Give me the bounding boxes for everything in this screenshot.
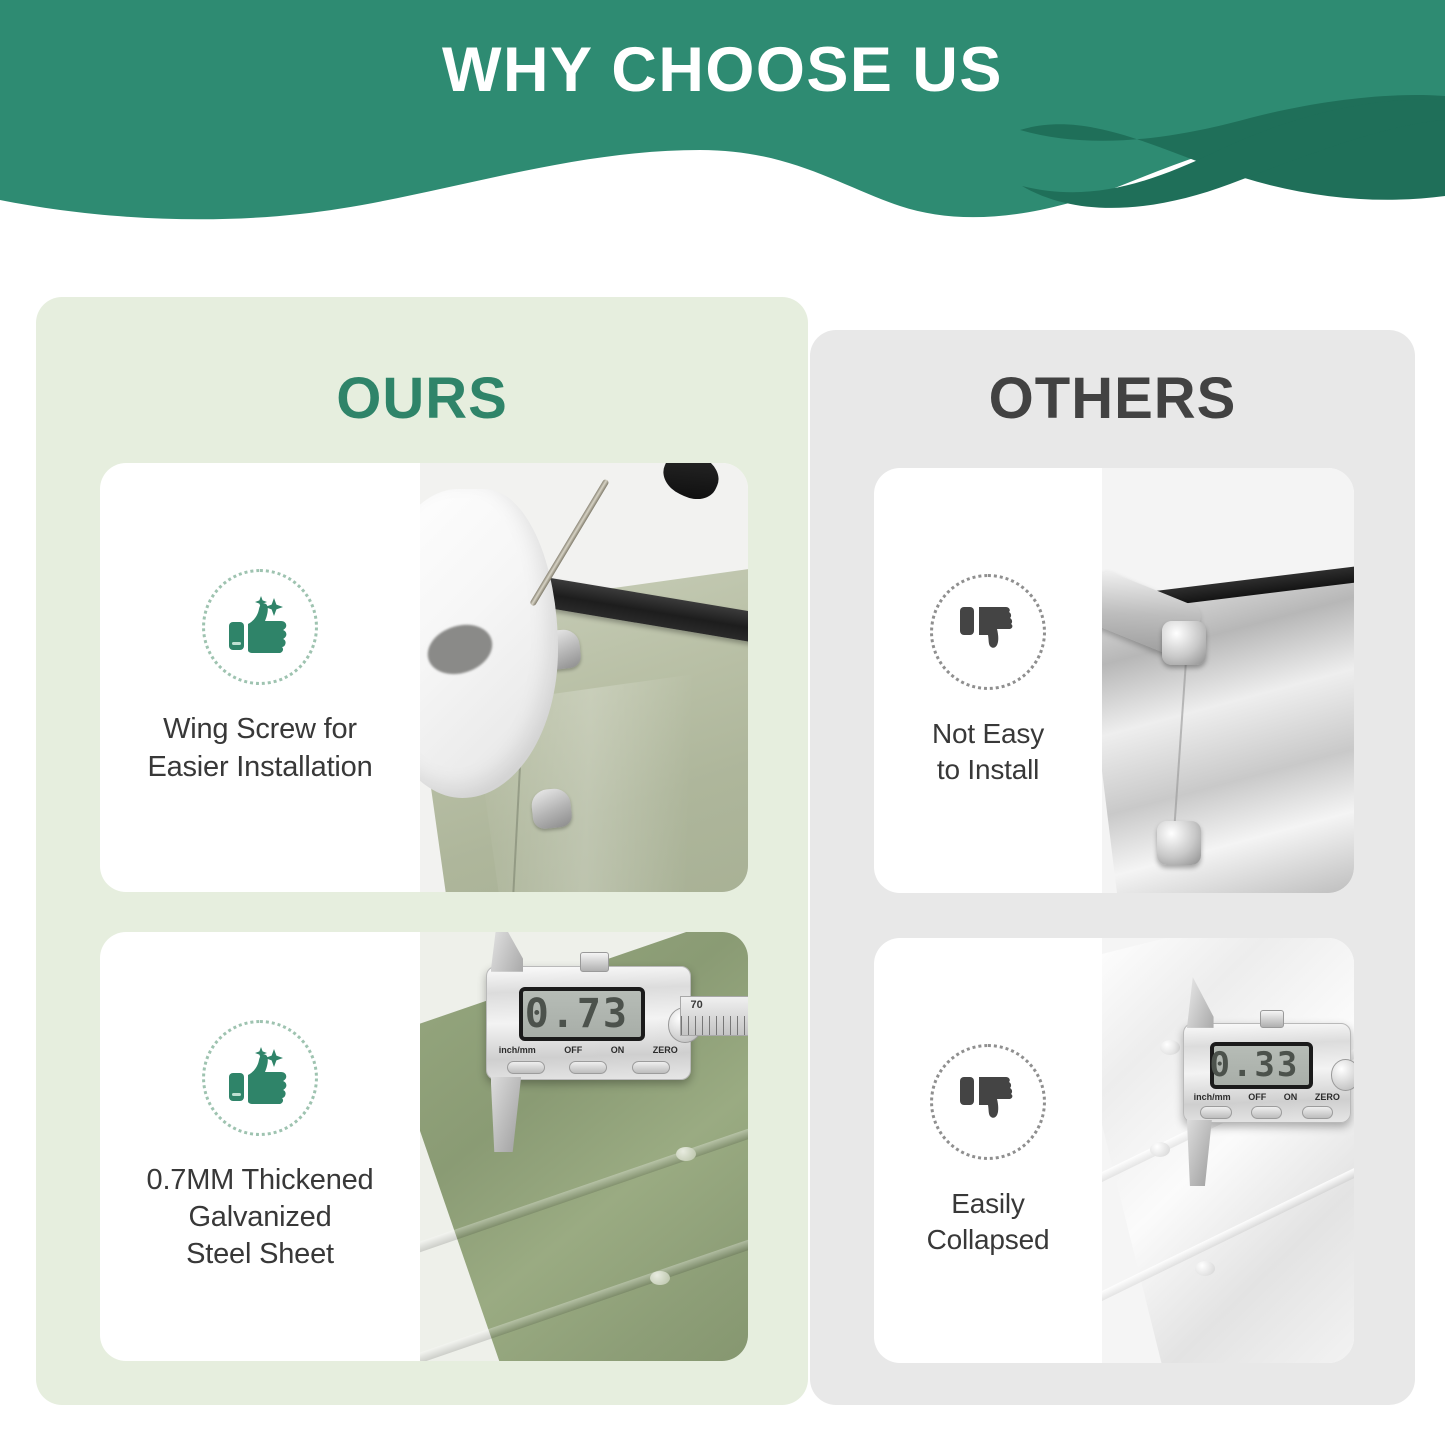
thumbs-up-sparkle-glyph: [227, 1047, 293, 1109]
screwdriver-handle: [656, 463, 725, 507]
caliper-scale-number: 70: [690, 999, 702, 1011]
caliper-button-zero: [632, 1061, 670, 1074]
caliper-lock-screw: [1260, 1010, 1284, 1028]
caliper-on-label: ON: [1284, 1092, 1298, 1102]
caliper-body: 0.33 inch/mm OFF ON ZERO: [1183, 1023, 1351, 1123]
others-heading: OTHERS: [810, 365, 1415, 432]
caliper-button-off: [507, 1061, 545, 1074]
caliper-button-zero: [1302, 1106, 1333, 1119]
ours-card-wing-screw: Wing Screw for Easier Installation: [100, 463, 748, 892]
caliper-green-panel-photo: 0.73 inch/mm OFF ON ZERO: [420, 932, 748, 1361]
thumbs-up-sparkle-icon: [202, 1020, 318, 1136]
caliper-off-label: OFF: [1248, 1092, 1266, 1102]
ours-card-2-caption: 0.7MM Thickened Galvanized Steel Sheet: [147, 1162, 374, 1273]
caliper-on-label: ON: [611, 1045, 625, 1055]
thumbs-up-sparkle-icon: [202, 569, 318, 685]
caliper-thumb-wheel: [1331, 1059, 1354, 1090]
panel-dimple-2: [650, 1271, 670, 1285]
others-card-2-caption: Easily Collapsed: [927, 1186, 1050, 1258]
caliper-button-on: [569, 1061, 607, 1074]
digital-caliper-others: 0.33 inch/mm OFF ON ZERO: [1183, 1023, 1349, 1121]
digital-caliper-ours: 0.73 inch/mm OFF ON ZERO: [486, 966, 689, 1078]
caliper-beam-scale: 70: [680, 996, 748, 1036]
caliper-lcd-screen: 0.33: [1210, 1042, 1313, 1089]
panel-dimple-2: [1150, 1142, 1170, 1157]
caliper-button-on: [1251, 1106, 1282, 1119]
caliper-off-label: OFF: [564, 1045, 582, 1055]
caliper-label-row: inch/mm OFF ON ZERO: [499, 1045, 678, 1055]
ours-card-1-caption: Wing Screw for Easier Installation: [147, 711, 372, 785]
ours-card-2-text-block: 0.7MM Thickened Galvanized Steel Sheet: [100, 932, 420, 1361]
panel-dimple-1: [1160, 1040, 1180, 1055]
others-card-2-text-block: Easily Collapsed: [874, 938, 1102, 1363]
thumbs-down-glyph: [958, 603, 1018, 661]
others-card-1-caption: Not Easy to Install: [932, 716, 1044, 788]
ours-card-1-text-block: Wing Screw for Easier Installation: [100, 463, 420, 892]
ours-heading: OURS: [36, 365, 808, 432]
caliper-upper-jaw: [491, 932, 524, 972]
wrench-bolt-silver-panel-photo: [1102, 468, 1354, 893]
caliper-reading-value: 0.33: [1209, 1045, 1299, 1085]
page-title: WHY CHOOSE US: [0, 0, 1445, 140]
ours-card-thickness: 0.7MM Thickened Galvanized Steel Sheet 0…: [100, 932, 748, 1361]
caliper-zero-label: ZERO: [653, 1045, 678, 1055]
others-card-1-text-block: Not Easy to Install: [874, 468, 1102, 893]
caliper-zero-label: ZERO: [1315, 1092, 1340, 1102]
thumbs-down-icon: [930, 1044, 1046, 1160]
others-card-install: Not Easy to Install: [874, 468, 1354, 893]
caliper-button-off: [1200, 1106, 1231, 1119]
caliper-body: 0.73 inch/mm OFF ON ZERO: [486, 966, 691, 1080]
caliper-button-row: [507, 1061, 670, 1074]
thumbs-down-glyph: [958, 1073, 1018, 1131]
caliper-button-row: [1200, 1106, 1333, 1119]
thumbs-up-sparkle-glyph: [227, 596, 293, 658]
caliper-unit-label: inch/mm: [499, 1045, 536, 1055]
caliper-white-panel-photo: 0.33 inch/mm OFF ON ZERO: [1102, 938, 1354, 1363]
caliper-lcd-screen: 0.73: [519, 987, 645, 1041]
thumbs-down-icon: [930, 574, 1046, 690]
wing-screw-lower: [530, 787, 573, 830]
hex-bolt-upper: [1162, 621, 1206, 665]
panel-dimple-1: [676, 1147, 696, 1161]
white-steel-panel: [1102, 938, 1354, 1363]
caliper-scale-ticks: [681, 1016, 748, 1035]
others-card-collapsed: Easily Collapsed 0.33 inch/mm: [874, 938, 1354, 1363]
caliper-reading-value: 0.73: [525, 991, 629, 1037]
caliper-lock-screw: [580, 952, 608, 972]
hex-bolt-lower: [1157, 821, 1201, 865]
gloved-hand-wing-screw-photo: [420, 463, 748, 892]
caliper-unit-label: inch/mm: [1194, 1092, 1231, 1102]
header-banner: WHY CHOOSE US: [0, 0, 1445, 230]
infographic-root: WHY CHOOSE US OURS Wing Screw for Easier…: [0, 0, 1445, 1445]
caliper-label-row: inch/mm OFF ON ZERO: [1194, 1092, 1340, 1102]
